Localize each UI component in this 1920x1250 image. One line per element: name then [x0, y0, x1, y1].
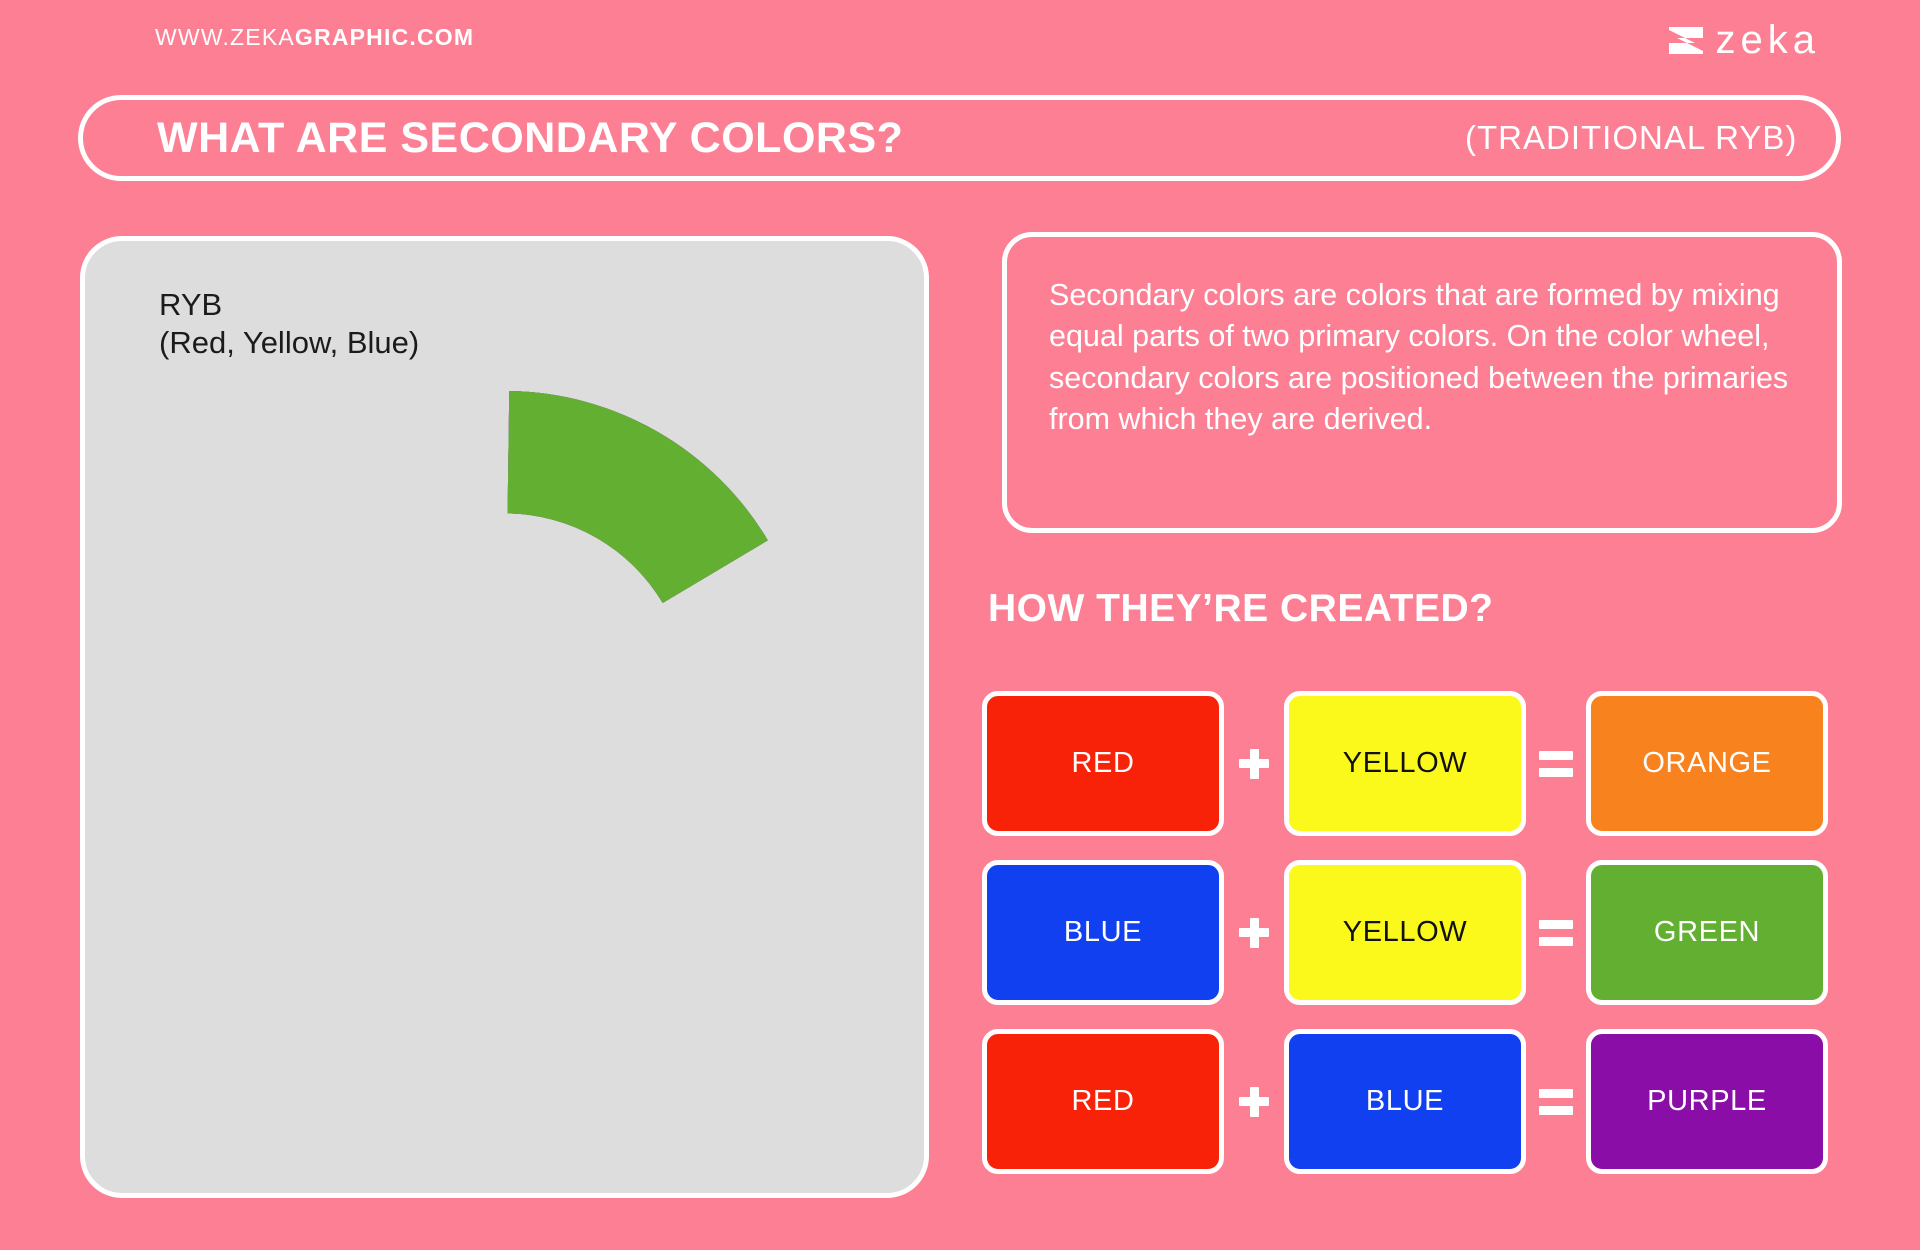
swatch-blue-b2[interactable]: BLUE [1284, 1029, 1526, 1174]
equation-row: REDBLUEPURPLE [982, 1029, 1862, 1174]
equation-row: BLUEYELLOWGREEN [982, 860, 1862, 1005]
how-created-heading: HOW THEY’RE CREATED? [988, 587, 1493, 631]
plus-icon [1224, 1087, 1284, 1117]
swatch-result-green[interactable]: GREEN [1586, 860, 1828, 1005]
donut-segment-green [507, 391, 767, 603]
brand-name: zeka [1716, 20, 1821, 60]
swatch-red-a2-label: RED [1071, 1085, 1134, 1118]
swatch-result-orange[interactable]: ORANGE [1586, 691, 1828, 836]
color-mixing-equations: REDYELLOWORANGEBLUEYELLOWGREENREDBLUEPUR… [982, 691, 1862, 1174]
swatch-yellow-b0-label: YELLOW [1343, 747, 1467, 780]
brand-logo: zeka [1669, 20, 1821, 60]
donut-segments [507, 391, 767, 603]
color-wheel-label: RYB (Red, Yellow, Blue) [159, 286, 419, 362]
swatch-yellow-b1-label: YELLOW [1343, 916, 1467, 949]
page-title-subtitle: (TRADITIONAL RYB) [1465, 119, 1797, 157]
plus-icon [1224, 918, 1284, 948]
swatch-red-a0-label: RED [1071, 747, 1134, 780]
swatch-blue-b2-label: BLUE [1366, 1085, 1444, 1118]
color-wheel-chart [199, 391, 811, 1003]
zeka-square-stripe-logo-icon [1669, 27, 1703, 54]
equals-icon [1526, 1089, 1586, 1115]
swatch-red-a2[interactable]: RED [982, 1029, 1224, 1174]
swatch-yellow-b1[interactable]: YELLOW [1284, 860, 1526, 1005]
swatch-blue-a1-label: BLUE [1064, 916, 1142, 949]
swatch-result-orange-label: ORANGE [1642, 747, 1771, 780]
site-url: WWW.ZEKAGRAPHIC.COM [155, 24, 474, 51]
swatch-yellow-b0[interactable]: YELLOW [1284, 691, 1526, 836]
swatch-result-green-label: GREEN [1654, 916, 1760, 949]
page-title: WHAT ARE SECONDARY COLORS? [157, 114, 903, 163]
top-bar: WWW.ZEKAGRAPHIC.COM zeka [0, 0, 1920, 78]
description-box: Secondary colors are colors that are for… [1002, 232, 1842, 533]
infographic-page: WWW.ZEKAGRAPHIC.COM zeka WHAT ARE SECOND… [0, 0, 1920, 1250]
description-text: Secondary colors are colors that are for… [1049, 275, 1809, 441]
plus-icon [1224, 749, 1284, 779]
swatch-blue-a1[interactable]: BLUE [982, 860, 1224, 1005]
title-banner: WHAT ARE SECONDARY COLORS? (TRADITIONAL … [78, 95, 1841, 181]
swatch-result-purple[interactable]: PURPLE [1586, 1029, 1828, 1174]
site-url-light: WWW.ZEKA [155, 24, 295, 50]
donut-chart-svg [199, 391, 811, 1003]
color-wheel-panel: RYB (Red, Yellow, Blue) [80, 236, 929, 1198]
swatch-red-a0[interactable]: RED [982, 691, 1224, 836]
swatch-result-purple-label: PURPLE [1647, 1085, 1767, 1118]
equation-row: REDYELLOWORANGE [982, 691, 1862, 836]
equals-icon [1526, 920, 1586, 946]
equals-icon [1526, 751, 1586, 777]
site-url-bold: GRAPHIC.COM [295, 24, 474, 50]
